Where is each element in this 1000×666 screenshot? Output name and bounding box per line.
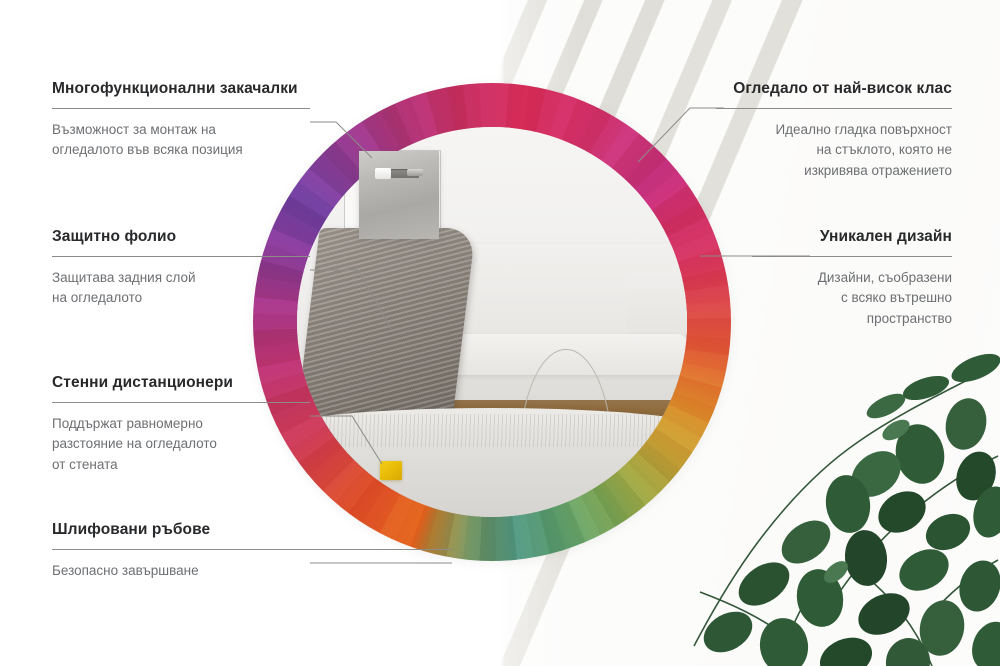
callout-edges-rule bbox=[52, 549, 452, 550]
text-line: изкривява отражението bbox=[804, 163, 952, 178]
infographic-stage: Многофункционални закачалки Възможност з… bbox=[0, 0, 1000, 666]
text-line: Идеално гладка повърхност bbox=[775, 122, 952, 137]
callout-class-description: Идеално гладка повърхност на стъклото, к… bbox=[716, 120, 952, 182]
callout-design-rule bbox=[752, 256, 952, 257]
callout-edges-description: Безопасно завършване bbox=[52, 561, 452, 582]
mirror-glass-reflection bbox=[297, 127, 687, 517]
callout-film-description: Защитава задния слой на огледалото bbox=[52, 268, 310, 309]
callout-edges-title: Шлифовани ръбове bbox=[52, 521, 452, 540]
callout-hangers-description: Възможност за монтаж на огледалото във в… bbox=[52, 120, 310, 161]
callout-hangers-title: Многофункционални закачалки bbox=[52, 80, 310, 99]
text-line: огледалото във всяка позиция bbox=[52, 142, 243, 157]
callout-premium-mirror: Огледало от най-висок клас Идеално гладк… bbox=[716, 80, 952, 181]
round-mirror bbox=[253, 83, 731, 561]
text-line: Възможност за монтаж на bbox=[52, 122, 216, 137]
text-line: Защитава задния слой bbox=[52, 270, 196, 285]
hanger-plate-icon bbox=[359, 151, 439, 239]
callout-design-title: Уникален дизайн bbox=[752, 228, 952, 247]
text-line: Поддържат равномерно bbox=[52, 416, 203, 431]
callout-film-rule bbox=[52, 256, 310, 257]
text-line: Дизайни, съобразени bbox=[818, 270, 952, 285]
callout-spacers-rule bbox=[52, 402, 310, 403]
callout-hangers-rule bbox=[52, 108, 310, 109]
callout-spacers-title: Стенни дистанционери bbox=[52, 374, 310, 393]
callout-spacers-description: Поддържат равномерно разстояние на оглед… bbox=[52, 414, 310, 476]
text-line: на стъклото, която не bbox=[816, 142, 952, 157]
reflection-rug bbox=[297, 408, 687, 517]
text-line: разстояние на огледалото bbox=[52, 436, 217, 451]
callout-polished-edges: Шлифовани ръбове Безопасно завършване bbox=[52, 521, 452, 581]
text-line: пространство bbox=[867, 311, 952, 326]
text-line: от стената bbox=[52, 457, 118, 472]
callout-class-title: Огледало от най-висок клас bbox=[716, 80, 952, 99]
callout-wall-spacers: Стенни дистанционери Поддържат равномерн… bbox=[52, 374, 310, 475]
text-line: на огледалото bbox=[52, 290, 142, 305]
hanger-slot bbox=[377, 169, 419, 178]
callout-hangers: Многофункционални закачалки Възможност з… bbox=[52, 80, 310, 161]
foliage-branch-icon bbox=[680, 346, 1000, 666]
callout-class-rule bbox=[716, 108, 952, 109]
text-line: с всяко вътрешно bbox=[841, 290, 952, 305]
callout-design-description: Дизайни, съобразени с всяко вътрешно про… bbox=[752, 268, 952, 330]
wall-spacer-icon bbox=[380, 461, 402, 480]
callout-protective-film: Защитно фолио Защитава задния слой на ог… bbox=[52, 228, 310, 309]
callout-unique-design: Уникален дизайн Дизайни, съобразени с вс… bbox=[752, 228, 952, 329]
callout-film-title: Защитно фолио bbox=[52, 228, 310, 247]
